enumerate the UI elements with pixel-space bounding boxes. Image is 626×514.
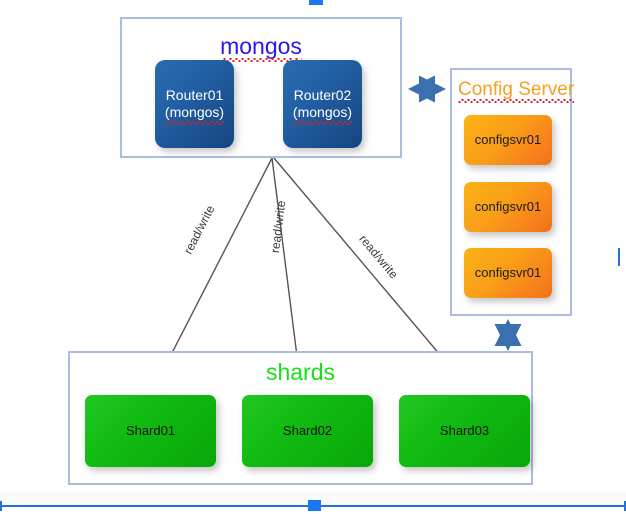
node-router01[interactable]: Router01 (mongos) [155, 60, 234, 148]
connector-label-shard01: read/write [181, 203, 217, 256]
connector-label-shard02: read/write [268, 200, 288, 254]
node-router02-line1: Router02 [293, 87, 352, 104]
node-shard02[interactable]: Shard02 [242, 395, 373, 467]
node-configsvr-3-label: configsvr01 [475, 265, 541, 281]
node-router01-line2: (mongos) [165, 104, 224, 121]
node-router02-line2: (mongos) [293, 104, 352, 121]
node-configsvr-1-label: configsvr01 [475, 132, 541, 148]
connector-label-shard03: read/write [356, 232, 401, 281]
mongos-panel-title-text: mongos [220, 35, 302, 58]
node-router01-line1: Router01 [165, 87, 224, 104]
node-configsvr-1[interactable]: configsvr01 [464, 115, 552, 165]
text-cursor-marker [618, 248, 620, 266]
diagram-canvas: read/write read/write read/write mongos … [0, 0, 626, 514]
selection-handle-top[interactable] [309, 0, 323, 5]
shards-panel-title: shards [70, 361, 531, 384]
selection-handle-bottom[interactable] [308, 500, 321, 511]
page-rule-cap-left [0, 501, 2, 511]
node-shard02-label: Shard02 [283, 423, 332, 439]
config-server-panel-title: Config Server [458, 80, 574, 99]
node-shard01[interactable]: Shard01 [85, 395, 216, 467]
node-shard03-label: Shard03 [440, 423, 489, 439]
node-shard01-label: Shard01 [126, 423, 175, 439]
node-shard03[interactable]: Shard03 [399, 395, 530, 467]
config-server-panel-title-text: Config Server [458, 80, 574, 99]
mongos-panel-title: mongos [122, 35, 400, 58]
node-router02[interactable]: Router02 (mongos) [283, 60, 362, 148]
node-configsvr-2-label: configsvr01 [475, 199, 541, 215]
node-configsvr-2[interactable]: configsvr01 [464, 182, 552, 232]
node-configsvr-3[interactable]: configsvr01 [464, 248, 552, 298]
